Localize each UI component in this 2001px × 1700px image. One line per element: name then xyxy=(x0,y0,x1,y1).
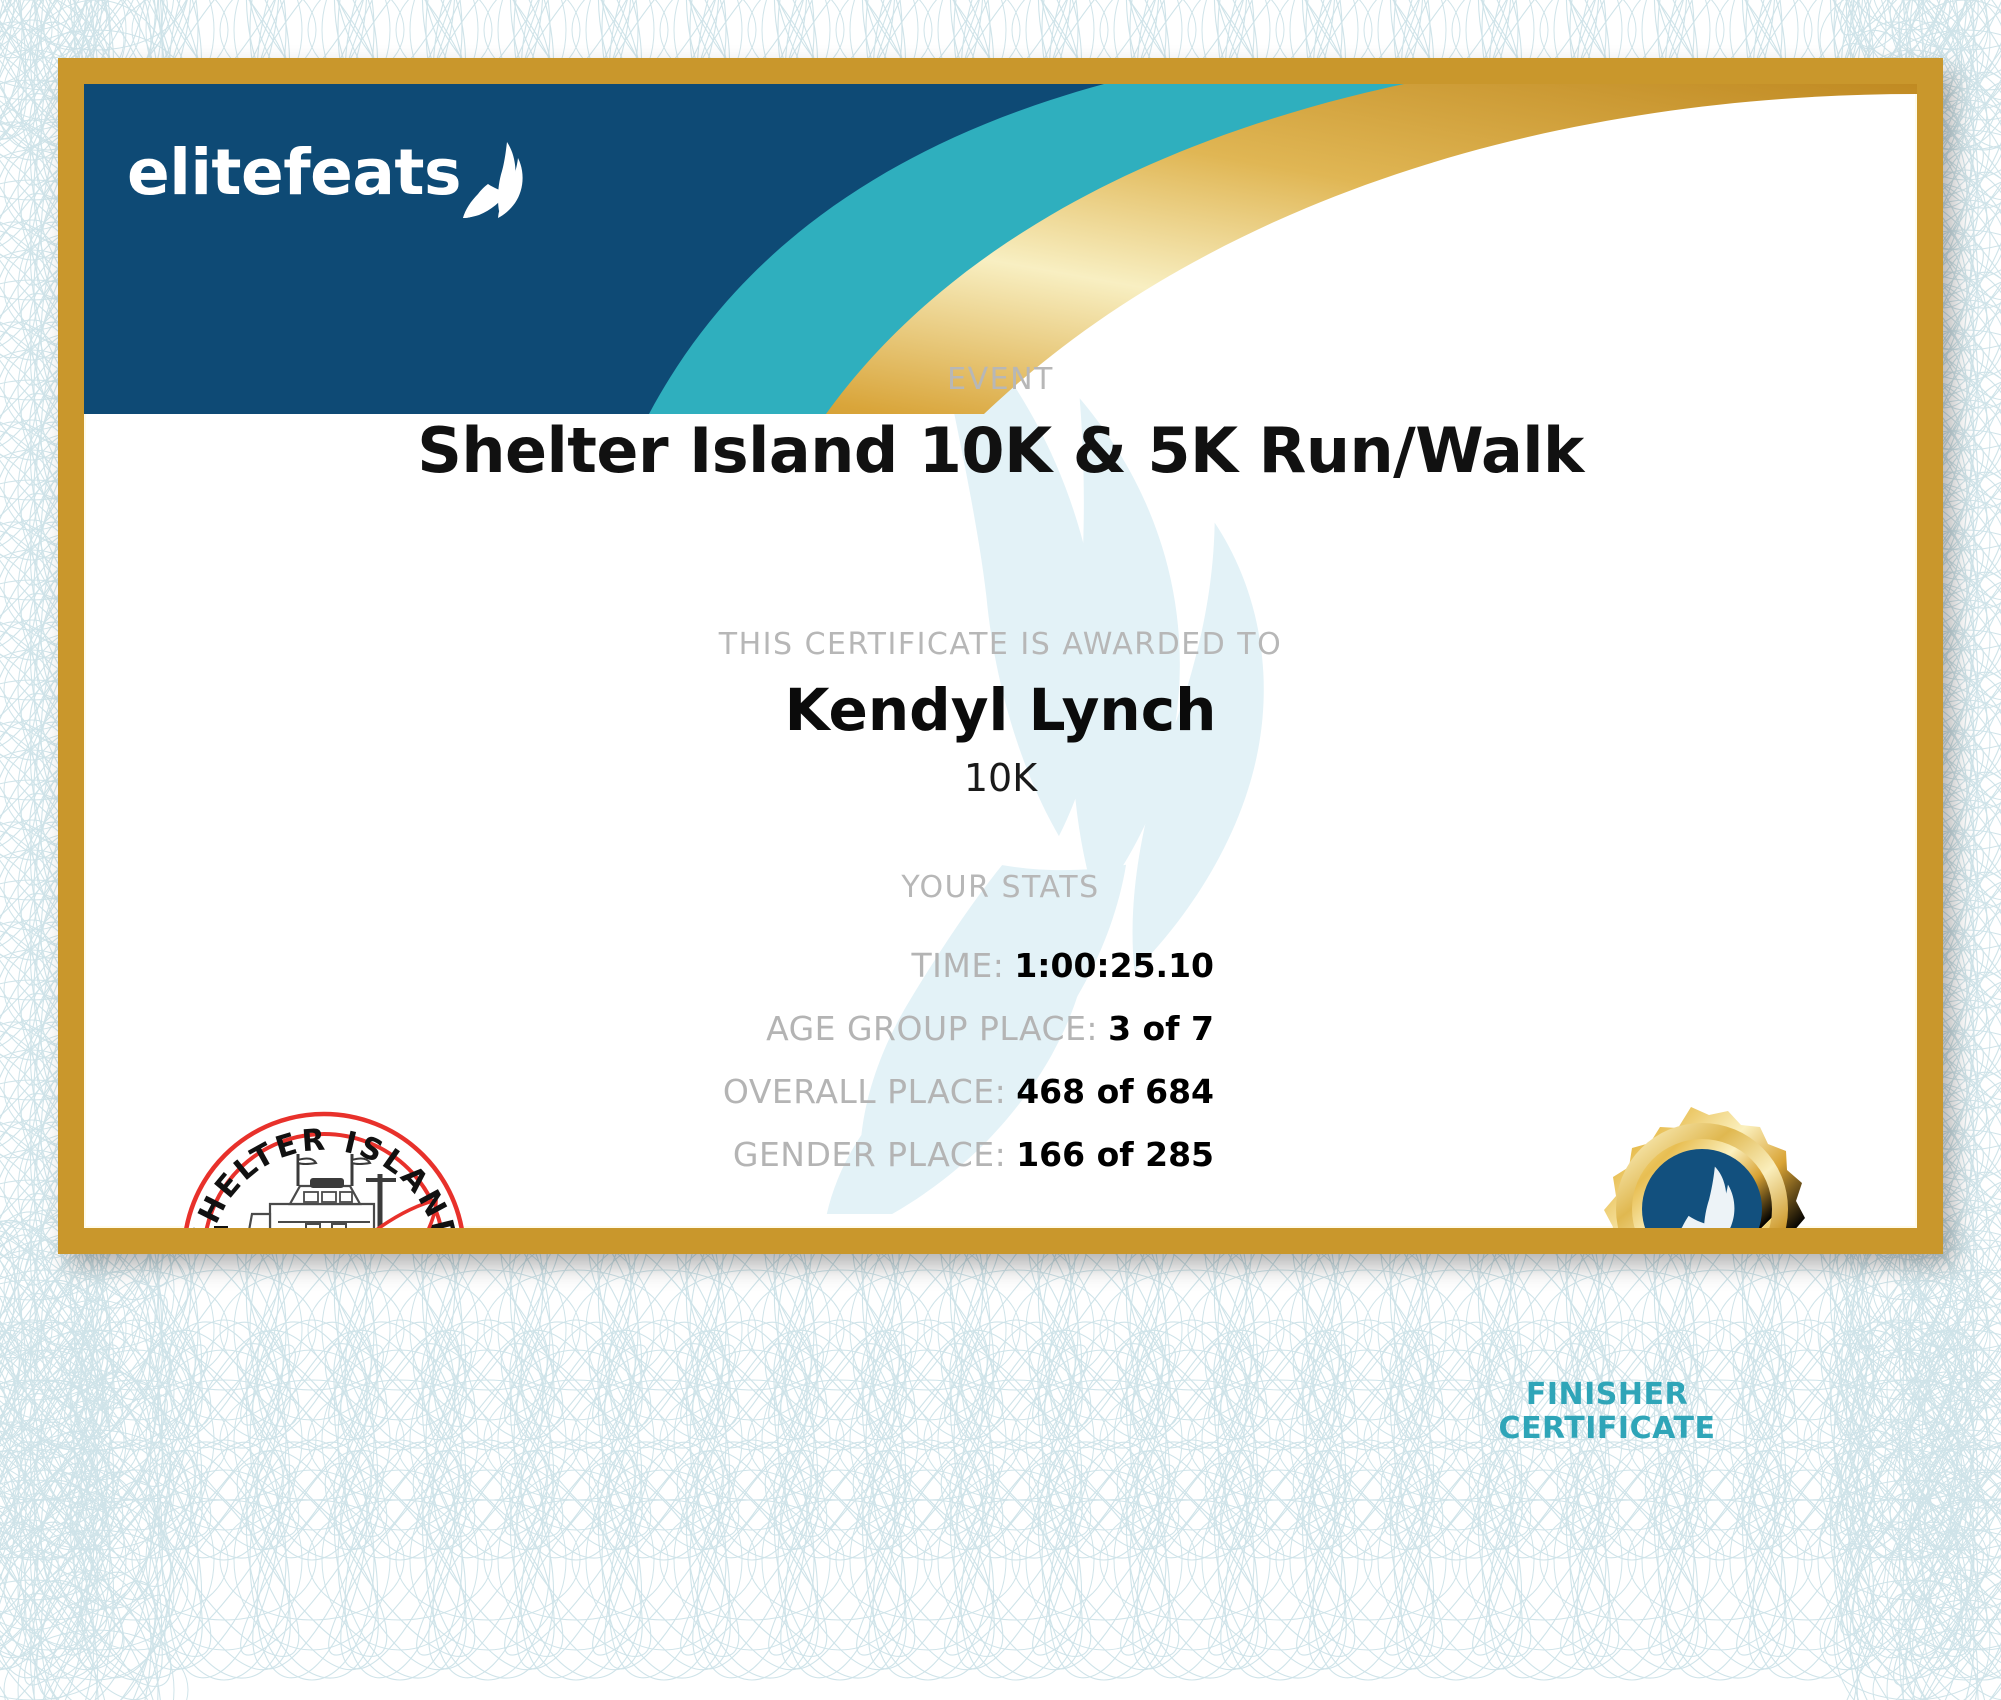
stat-row: TIME: 1:00:25.10 xyxy=(84,946,1214,985)
certificate-page: elitefeats EVENT Shelter Island 10K & 5K… xyxy=(0,0,2001,1700)
shelter-island-10k-logo: SHELTER ISLAND 10K TM xyxy=(174,1104,474,1254)
stat-key: OVERALL PLACE: xyxy=(723,1072,1006,1111)
brand-wordmark: elitefeats xyxy=(127,141,461,204)
stat-value: 1:00:25.10 xyxy=(1014,946,1214,985)
awardee-name: Kendyl Lynch xyxy=(84,676,1917,744)
awardee-distance: 10K xyxy=(84,756,1917,800)
stat-key: GENDER PLACE: xyxy=(733,1135,1006,1174)
stat-key: AGE GROUP PLACE: xyxy=(766,1009,1098,1048)
caption-line-1: FINISHER xyxy=(1432,1378,1782,1412)
event-title: Shelter Island 10K & 5K Run/Walk xyxy=(84,414,1917,487)
finisher-certificate-caption: FINISHER CERTIFICATE xyxy=(1432,1378,1782,1445)
winged-foot-icon xyxy=(463,140,535,218)
your-stats-label: YOUR STATS xyxy=(84,870,1917,905)
caption-line-2: CERTIFICATE xyxy=(1432,1412,1782,1446)
stat-row: AGE GROUP PLACE: 3 of 7 xyxy=(84,1009,1214,1048)
stat-value: 166 of 285 xyxy=(1016,1135,1214,1174)
gold-medal xyxy=(1604,1107,1805,1254)
event-label: EVENT xyxy=(84,362,1917,397)
certificate-content: EVENT Shelter Island 10K & 5K Run/Walk T… xyxy=(84,84,1917,1228)
finisher-medal-badge: 2022 xyxy=(1546,1099,1836,1254)
stat-value: 3 of 7 xyxy=(1108,1009,1214,1048)
awarded-to-label: THIS CERTIFICATE IS AWARDED TO xyxy=(84,627,1917,662)
elitefeats-logo: elitefeats xyxy=(127,140,535,204)
stat-key: TIME: xyxy=(911,946,1004,985)
certificate-frame: elitefeats EVENT Shelter Island 10K & 5K… xyxy=(58,58,1943,1254)
stat-value: 468 of 684 xyxy=(1016,1072,1214,1111)
